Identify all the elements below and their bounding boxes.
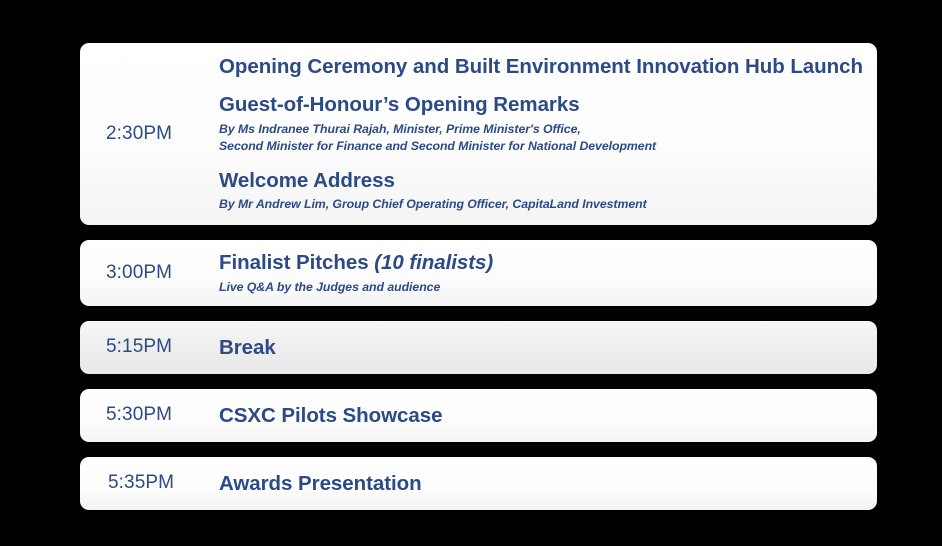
agenda-item-title-note: (10 finalists) (374, 251, 493, 274)
agenda-content: Finalist Pitches (10 finalists) Live Q&A… (219, 250, 877, 296)
row-gap (80, 374, 877, 389)
agenda-item-subtitle: By Ms Indranee Thurai Rajah, Minister, P… (219, 121, 863, 138)
agenda-item-title: CSXC Pilots Showcase (219, 403, 859, 429)
agenda-item-title: Guest-of-Honour’s Opening Remarks (219, 92, 863, 118)
agenda-item-subtitle: Live Q&A by the Judges and audience (219, 279, 859, 296)
agenda-item-title: Break (219, 335, 859, 361)
agenda-item-title: Opening Ceremony and Built Environment I… (219, 54, 863, 80)
spacer (219, 156, 863, 168)
agenda-content: Awards Presentation (219, 471, 877, 497)
agenda-row[interactable]: 5:30PM CSXC Pilots Showcase (80, 389, 877, 442)
agenda-item-subtitle: By Mr Andrew Lim, Group Chief Operating … (219, 196, 863, 213)
agenda-item-title: Finalist Pitches (10 finalists) (219, 250, 859, 276)
agenda-row[interactable]: 2:30PM Opening Ceremony and Built Enviro… (80, 43, 877, 225)
agenda-time: 5:30PM (80, 404, 219, 427)
row-gap (80, 225, 877, 240)
agenda-content: Opening Ceremony and Built Environment I… (219, 54, 877, 214)
agenda-time: 5:15PM (80, 336, 219, 359)
spacer (219, 80, 863, 92)
agenda-item-subtitle: Second Minister for Finance and Second M… (219, 138, 863, 155)
agenda-content: Break (219, 335, 877, 361)
agenda-time: 3:00PM (80, 262, 219, 285)
agenda-row[interactable]: 3:00PM Finalist Pitches (10 finalists) L… (80, 240, 877, 306)
agenda-time: 5:35PM (80, 472, 219, 495)
row-gap (80, 306, 877, 321)
agenda-item-title-text: Finalist Pitches (219, 251, 374, 274)
agenda-time: 2:30PM (80, 123, 219, 146)
agenda-row[interactable]: 5:35PM Awards Presentation (80, 457, 877, 510)
agenda-list: 2:30PM Opening Ceremony and Built Enviro… (80, 43, 877, 510)
agenda-screen: 2:30PM Opening Ceremony and Built Enviro… (0, 0, 942, 546)
agenda-content: CSXC Pilots Showcase (219, 403, 877, 429)
row-gap (80, 442, 877, 457)
agenda-item-title: Awards Presentation (219, 471, 859, 497)
agenda-row[interactable]: 5:15PM Break (80, 321, 877, 374)
agenda-item-title: Welcome Address (219, 168, 863, 194)
